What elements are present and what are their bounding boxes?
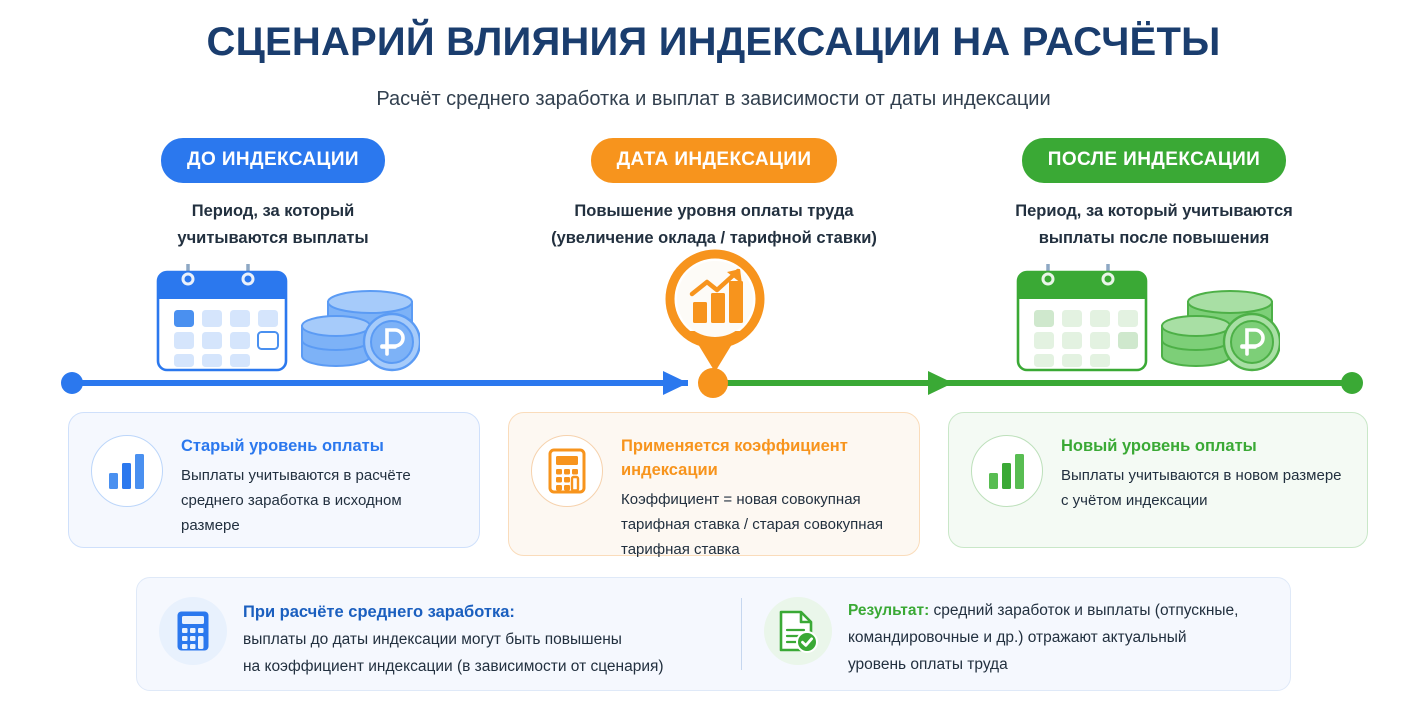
timeline-indexation-node (698, 368, 728, 398)
summary-left-heading: При расчёте среднего заработка: (243, 598, 664, 627)
column-before-indexation: ДО ИНДЕКСАЦИИ Период, за который учитыва… (72, 138, 474, 251)
card-new-pay-body: Новый уровень оплаты Выплаты учитываются… (1061, 433, 1342, 513)
summary-right-line1: Результат: средний заработок и выплаты (… (848, 598, 1239, 625)
column-before-description-line2: учитываются выплаты (72, 225, 474, 252)
card-new-pay-text-line1: Выплаты учитываются в новом размере (1061, 463, 1342, 488)
card-coefficient-body: Применяется коэффициент индексации Коэфф… (621, 433, 883, 562)
card-old-pay-text-line2: среднего заработка в исходном размере (181, 488, 459, 538)
map-pin-growth-chart-icon (660, 248, 770, 380)
column-after-indexation: ПОСЛЕ ИНДЕКСАЦИИ Период, за который учит… (953, 138, 1355, 251)
summary-panel: При расчёте среднего заработка: выплаты … (136, 577, 1291, 691)
summary-right-icon-wrap (764, 597, 832, 665)
badge-before-indexation[interactable]: ДО ИНДЕКСАЦИИ (161, 138, 385, 183)
summary-left-body: При расчёте среднего заработка: выплаты … (243, 597, 664, 681)
badge-after-indexation[interactable]: ПОСЛЕ ИНДЕКСАЦИИ (1022, 138, 1286, 183)
summary-right: Результат: средний заработок и выплаты (… (742, 578, 1290, 690)
calculator-icon (548, 448, 586, 494)
card-coefficient-title-line2: индексации (621, 459, 883, 483)
card-new-pay-title: Новый уровень оплаты (1061, 435, 1342, 459)
card-new-pay-icon-wrap (971, 435, 1043, 507)
column-before-description-line1: Период, за который (72, 198, 474, 225)
summary-right-line3: уровень оплаты труда (848, 652, 1239, 679)
calculator-icon (176, 610, 210, 652)
card-old-pay-icon-wrap (91, 435, 163, 507)
summary-right-line2: командировочные и др.) отражают актуальн… (848, 625, 1239, 652)
infographic-root: СЦЕНАРИЙ ВЛИЯНИЯ ИНДЕКСАЦИИ НА РАСЧЁТЫ Р… (0, 0, 1427, 714)
document-check-icon (778, 609, 818, 653)
card-new-pay-level: Новый уровень оплаты Выплаты учитываются… (948, 412, 1368, 548)
column-after-description-line1: Период, за который учитываются (953, 198, 1355, 225)
column-indexation-date: ДАТА ИНДЕКСАЦИИ Повышение уровня оплаты … (513, 138, 915, 251)
page-subtitle: Расчёт среднего заработка и выплат в зав… (0, 88, 1427, 111)
card-coefficient-text: Коэффициент = новая совокупная тарифная … (621, 487, 883, 563)
card-coefficient-icon-wrap (531, 435, 603, 507)
bar-chart-icon (987, 453, 1027, 489)
card-coefficient-title-line1: Применяется коэффициент (621, 435, 883, 459)
card-coefficient-title: Применяется коэффициент индексации (621, 435, 883, 483)
card-indexation-coefficient: Применяется коэффициент индексации Коэфф… (508, 412, 920, 556)
timeline-end-dot (1341, 372, 1363, 394)
summary-right-label: Результат: (848, 602, 929, 619)
timeline-before-arrowhead (663, 371, 688, 395)
timeline-after-arrowhead (928, 371, 953, 395)
card-coefficient-text-line1: Коэффициент = новая совокупная (621, 487, 883, 512)
page-title: СЦЕНАРИЙ ВЛИЯНИЯ ИНДЕКСАЦИИ НА РАСЧЁТЫ (0, 20, 1427, 65)
calendar-coins-green-group (1010, 252, 1280, 374)
column-date-description: Повышение уровня оплаты труда (увеличени… (513, 198, 915, 251)
column-date-description-line1: Повышение уровня оплаты труда (513, 198, 915, 225)
card-coefficient-text-line3: тарифная ставка (621, 537, 883, 562)
summary-left-icon-wrap (159, 597, 227, 665)
calendar-coins-blue-group (150, 252, 420, 374)
icons-before-indexation (150, 252, 420, 374)
column-after-description-line2: выплаты после повышения (953, 225, 1355, 252)
summary-left-line1: выплаты до даты индексации могут быть по… (243, 627, 664, 654)
card-old-pay-text: Выплаты учитываются в расчёте среднего з… (181, 463, 459, 539)
card-old-pay-body: Старый уровень оплаты Выплаты учитываютс… (181, 433, 459, 538)
summary-right-line1-rest: средний заработок и выплаты (отпускные, (929, 602, 1238, 619)
bar-chart-icon (107, 453, 147, 489)
card-old-pay-title: Старый уровень оплаты (181, 435, 459, 459)
timeline-start-dot (61, 372, 83, 394)
card-coefficient-text-line2: тарифная ставка / старая совокупная (621, 512, 883, 537)
column-after-description: Период, за который учитываются выплаты п… (953, 198, 1355, 251)
card-old-pay-level: Старый уровень оплаты Выплаты учитываютс… (68, 412, 480, 548)
timeline (0, 362, 1427, 398)
card-old-pay-text-line1: Выплаты учитываются в расчёте (181, 463, 459, 488)
summary-right-body: Результат: средний заработок и выплаты (… (848, 597, 1239, 679)
card-new-pay-text: Выплаты учитываются в новом размере с уч… (1061, 463, 1342, 513)
summary-left: При расчёте среднего заработка: выплаты … (137, 578, 741, 690)
summary-left-line2: на коэффициент индексации (в зависимости… (243, 654, 664, 681)
column-before-description: Период, за который учитываются выплаты (72, 198, 474, 251)
card-new-pay-text-line2: с учётом индексации (1061, 488, 1342, 513)
timeline-svg (0, 362, 1427, 398)
badge-indexation-date[interactable]: ДАТА ИНДЕКСАЦИИ (591, 138, 838, 183)
icons-after-indexation (1010, 252, 1280, 374)
